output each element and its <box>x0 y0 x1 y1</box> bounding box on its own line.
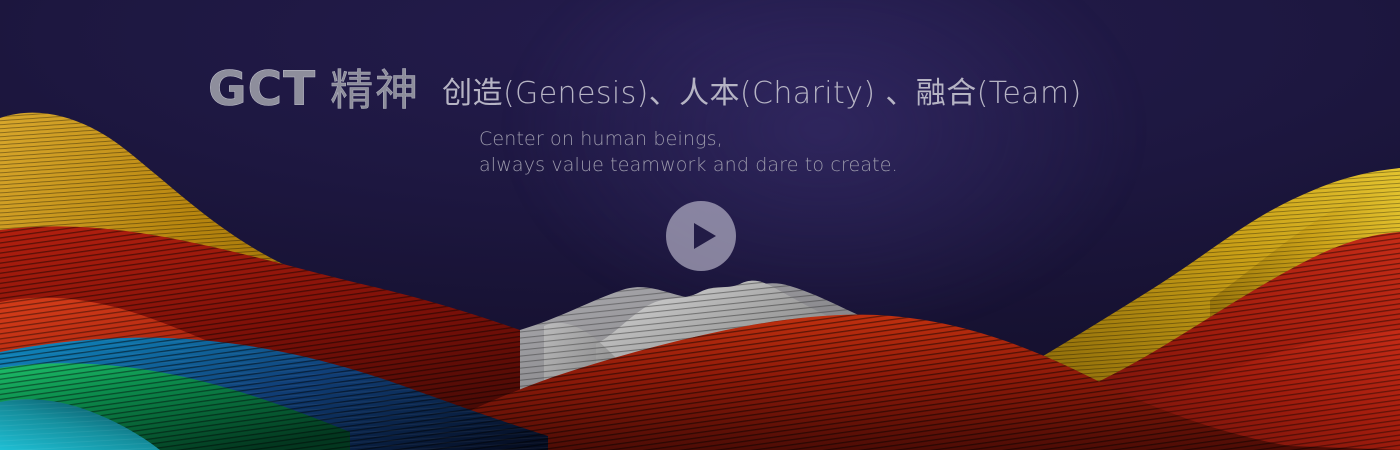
play-triangle-icon <box>694 223 716 249</box>
hero-banner: GCT 精神 创造(Genesis)、人本(Charity) 、融合(Team)… <box>0 0 1400 450</box>
play-video-button[interactable] <box>666 201 736 271</box>
